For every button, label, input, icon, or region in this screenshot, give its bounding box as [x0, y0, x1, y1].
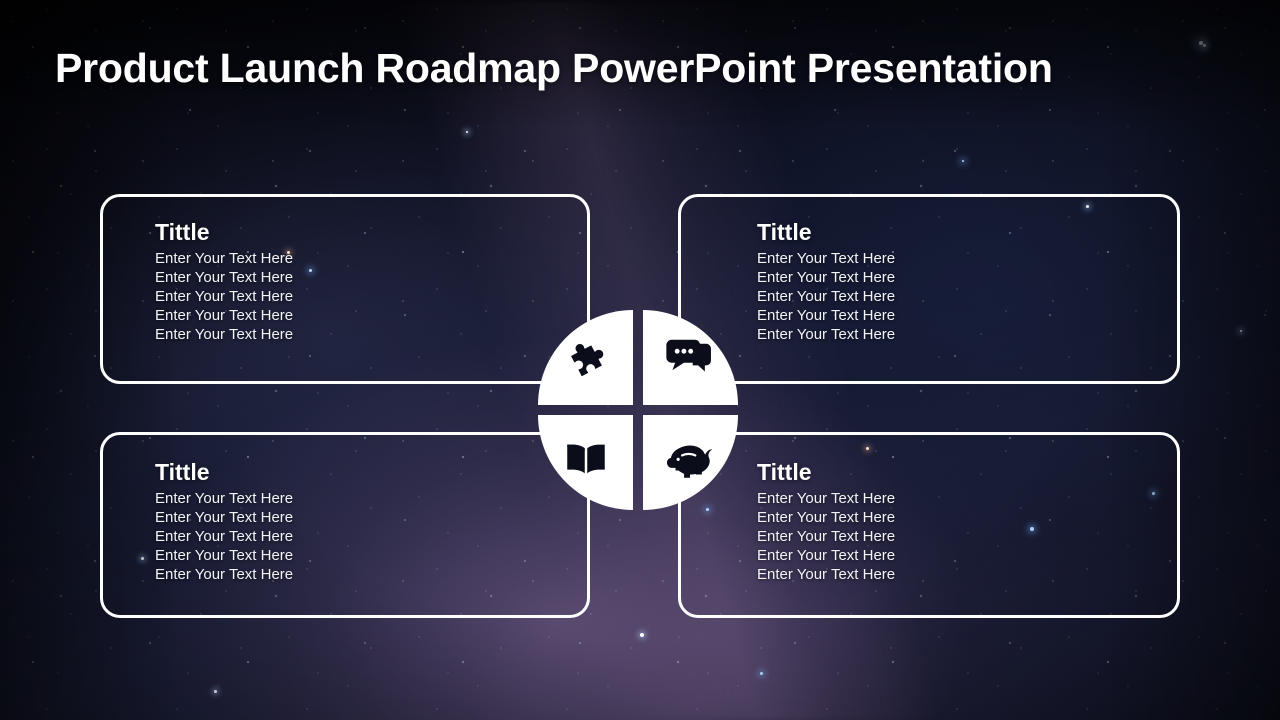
- card-line: Enter Your Text Here: [155, 546, 293, 565]
- card-line: Enter Your Text Here: [155, 565, 293, 584]
- card-body: Tittle Enter Your Text Here Enter Your T…: [155, 219, 293, 344]
- card-title: Tittle: [757, 459, 895, 486]
- hub-divider-horizontal: [516, 405, 760, 415]
- card-line: Enter Your Text Here: [757, 287, 895, 306]
- card-line: Enter Your Text Here: [155, 489, 293, 508]
- card-line: Enter Your Text Here: [155, 268, 293, 287]
- card-line: Enter Your Text Here: [155, 287, 293, 306]
- page-title: Product Launch Roadmap PowerPoint Presen…: [55, 45, 1245, 92]
- card-line: Enter Your Text Here: [757, 325, 895, 344]
- card-line: Enter Your Text Here: [757, 508, 895, 527]
- content-card-bottom-right[interactable]: Tittle Enter Your Text Here Enter Your T…: [678, 432, 1180, 618]
- card-body: Tittle Enter Your Text Here Enter Your T…: [155, 459, 293, 584]
- piggy-bank-icon: [665, 441, 715, 483]
- content-card-bottom-left[interactable]: Tittle Enter Your Text Here Enter Your T…: [100, 432, 590, 618]
- hub-quadrant-bottom-right[interactable]: [643, 415, 738, 510]
- card-line: Enter Your Text Here: [757, 249, 895, 268]
- card-line: Enter Your Text Here: [757, 546, 895, 565]
- card-title: Tittle: [155, 219, 293, 246]
- card-body: Tittle Enter Your Text Here Enter Your T…: [757, 219, 895, 344]
- hub-quadrant-bottom-left[interactable]: [538, 415, 633, 510]
- hub-quadrant-top-left[interactable]: [538, 310, 633, 405]
- puzzle-piece-icon: [564, 336, 607, 379]
- card-title: Tittle: [757, 219, 895, 246]
- card-line: Enter Your Text Here: [155, 527, 293, 546]
- card-title: Tittle: [155, 459, 293, 486]
- card-line: Enter Your Text Here: [155, 306, 293, 325]
- hub-quadrant-top-right[interactable]: [643, 310, 738, 405]
- card-line: Enter Your Text Here: [757, 565, 895, 584]
- content-card-top-left[interactable]: Tittle Enter Your Text Here Enter Your T…: [100, 194, 590, 384]
- card-line: Enter Your Text Here: [155, 325, 293, 344]
- card-line: Enter Your Text Here: [757, 268, 895, 287]
- card-line: Enter Your Text Here: [155, 508, 293, 527]
- chat-bubbles-icon: [665, 338, 715, 378]
- slide-canvas: Product Launch Roadmap PowerPoint Presen…: [0, 0, 1280, 720]
- open-book-icon: [566, 439, 606, 479]
- card-line: Enter Your Text Here: [155, 249, 293, 268]
- card-body: Tittle Enter Your Text Here Enter Your T…: [757, 459, 895, 584]
- card-line: Enter Your Text Here: [757, 527, 895, 546]
- content-card-top-right[interactable]: Tittle Enter Your Text Here Enter Your T…: [678, 194, 1180, 384]
- card-line: Enter Your Text Here: [757, 306, 895, 325]
- card-line: Enter Your Text Here: [757, 489, 895, 508]
